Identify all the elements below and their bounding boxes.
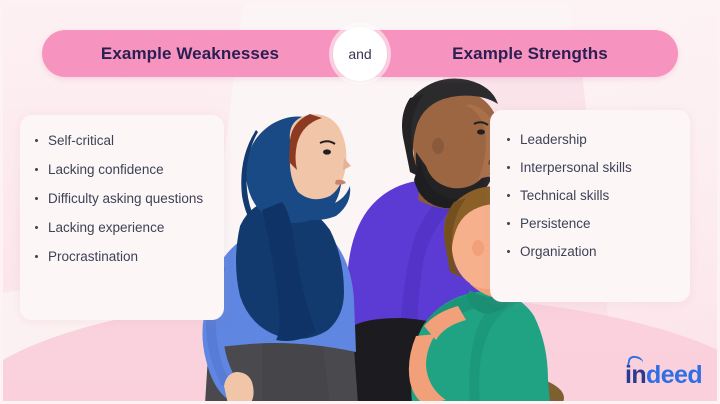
bullet-icon	[35, 255, 38, 258]
list-item-label: Leadership	[520, 132, 587, 147]
infographic-canvas: Example Weaknesses Example Strengths and…	[0, 0, 720, 404]
header-banner: Example Weaknesses Example Strengths and	[42, 30, 678, 77]
weaknesses-list: Self-critical Lacking confidence Difficu…	[20, 115, 224, 265]
list-item-label: Technical skills	[520, 188, 609, 203]
list-item: Lacking experience	[34, 220, 214, 236]
list-item-label: Interpersonal skills	[520, 160, 632, 175]
list-item: Technical skills	[506, 188, 680, 204]
bullet-icon	[35, 168, 38, 171]
strengths-list: Leadership Interpersonal skills Technica…	[490, 110, 690, 260]
list-item-label: Self-critical	[48, 133, 114, 148]
list-item: Leadership	[506, 132, 680, 148]
list-item: Persistence	[506, 216, 680, 232]
list-item-label: Procrastination	[48, 249, 138, 264]
list-item: Lacking confidence	[34, 162, 214, 178]
bullet-icon	[507, 250, 510, 253]
list-item: Interpersonal skills	[506, 160, 680, 176]
indeed-logo: indeed	[625, 363, 702, 388]
bullet-icon	[507, 138, 510, 141]
list-item-label: Difficulty asking questions	[48, 191, 203, 206]
header-connector-badge: and	[333, 27, 387, 81]
list-item: Organization	[506, 244, 680, 260]
bullet-icon	[507, 222, 510, 225]
figure-woman-hijab	[202, 114, 358, 404]
strengths-card: Leadership Interpersonal skills Technica…	[490, 110, 690, 302]
list-item: Procrastination	[34, 249, 214, 265]
list-item-label: Lacking experience	[48, 220, 164, 235]
list-item: Self-critical	[34, 133, 214, 149]
header-right-title: Example Strengths	[360, 44, 678, 64]
weaknesses-card: Self-critical Lacking confidence Difficu…	[20, 115, 224, 320]
bullet-icon	[507, 166, 510, 169]
indeed-logo-wordmark: indeed	[625, 363, 702, 388]
bullet-icon	[35, 226, 38, 229]
bullet-icon	[35, 197, 38, 200]
list-item: Difficulty asking questions	[34, 191, 214, 207]
bullet-icon	[507, 194, 510, 197]
list-item-label: Lacking confidence	[48, 162, 164, 177]
bullet-icon	[35, 139, 38, 142]
list-item-label: Organization	[520, 244, 597, 259]
logo-text-part2: deed	[646, 361, 702, 389]
list-item-label: Persistence	[520, 216, 591, 231]
header-left-title: Example Weaknesses	[42, 44, 360, 64]
